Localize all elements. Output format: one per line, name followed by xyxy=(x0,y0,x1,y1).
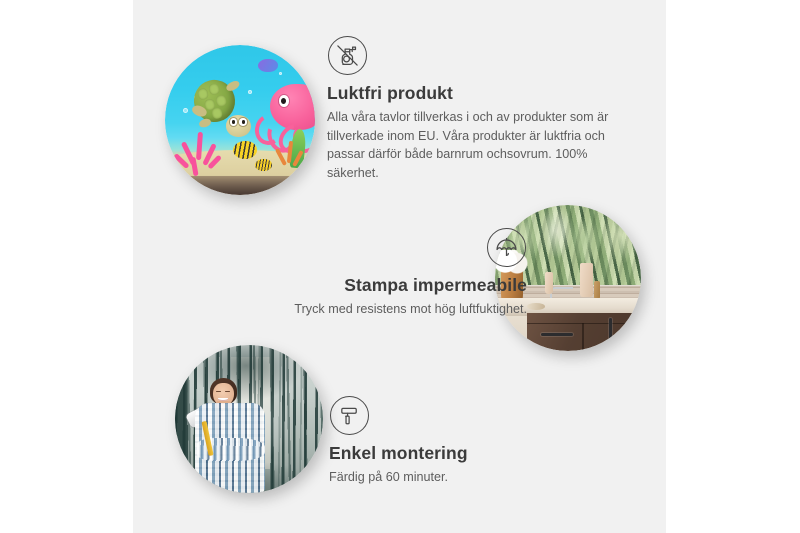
feature-stampa-impermeabile: Stampa impermeabile Tryck med resistens … xyxy=(197,228,527,319)
yellow-fish-small-icon xyxy=(255,159,272,171)
wood-stand xyxy=(594,281,600,300)
woman-forest-image xyxy=(175,345,323,493)
bubble-icon xyxy=(183,108,188,113)
sea-turtle-icon xyxy=(191,78,253,138)
tall-bottle xyxy=(580,263,593,297)
sea-bottom-band xyxy=(165,176,315,196)
feature-title: Stampa impermeabile xyxy=(197,275,527,296)
feature-enkel-montering: Enkel montering Färdig på 60 minuter. xyxy=(329,396,629,487)
feature-body: Färdig på 60 minuter. xyxy=(329,468,629,487)
orange-coral-icon xyxy=(273,141,306,177)
paint-roller-icon xyxy=(330,396,369,435)
woman-paint-roller-forest-circle[interactable] xyxy=(175,345,323,493)
underwater-cartoon-image xyxy=(165,45,315,195)
bubble-icon xyxy=(279,72,282,75)
feature-title: Luktfri produkt xyxy=(327,83,627,104)
umbrella-icon xyxy=(487,228,526,267)
pink-coral-icon xyxy=(177,132,222,180)
soap-dish xyxy=(527,303,545,310)
yellow-fish-icon xyxy=(233,141,257,159)
wooden-vanity xyxy=(527,313,641,351)
forest-scene xyxy=(175,345,323,493)
woman-figure xyxy=(190,378,282,493)
content-canvas: Luktfri produkt Alla våra tavlor tillver… xyxy=(133,0,666,533)
underwater-cartoon-circle[interactable] xyxy=(165,45,315,195)
no-fragrance-icon xyxy=(328,36,367,75)
feature-body: Tryck med resistens mot hög luftfuktighe… xyxy=(197,300,527,319)
feature-body: Alla våra tavlor tillverkas i och av pro… xyxy=(327,108,627,183)
feature-luktfri-produkt: Luktfri produkt Alla våra tavlor tillver… xyxy=(327,36,627,183)
soap-bottle xyxy=(545,272,554,294)
page-root: Luktfri produkt Alla våra tavlor tillver… xyxy=(0,0,800,533)
blue-fish-icon xyxy=(258,59,278,73)
feature-title: Enkel montering xyxy=(329,443,629,464)
